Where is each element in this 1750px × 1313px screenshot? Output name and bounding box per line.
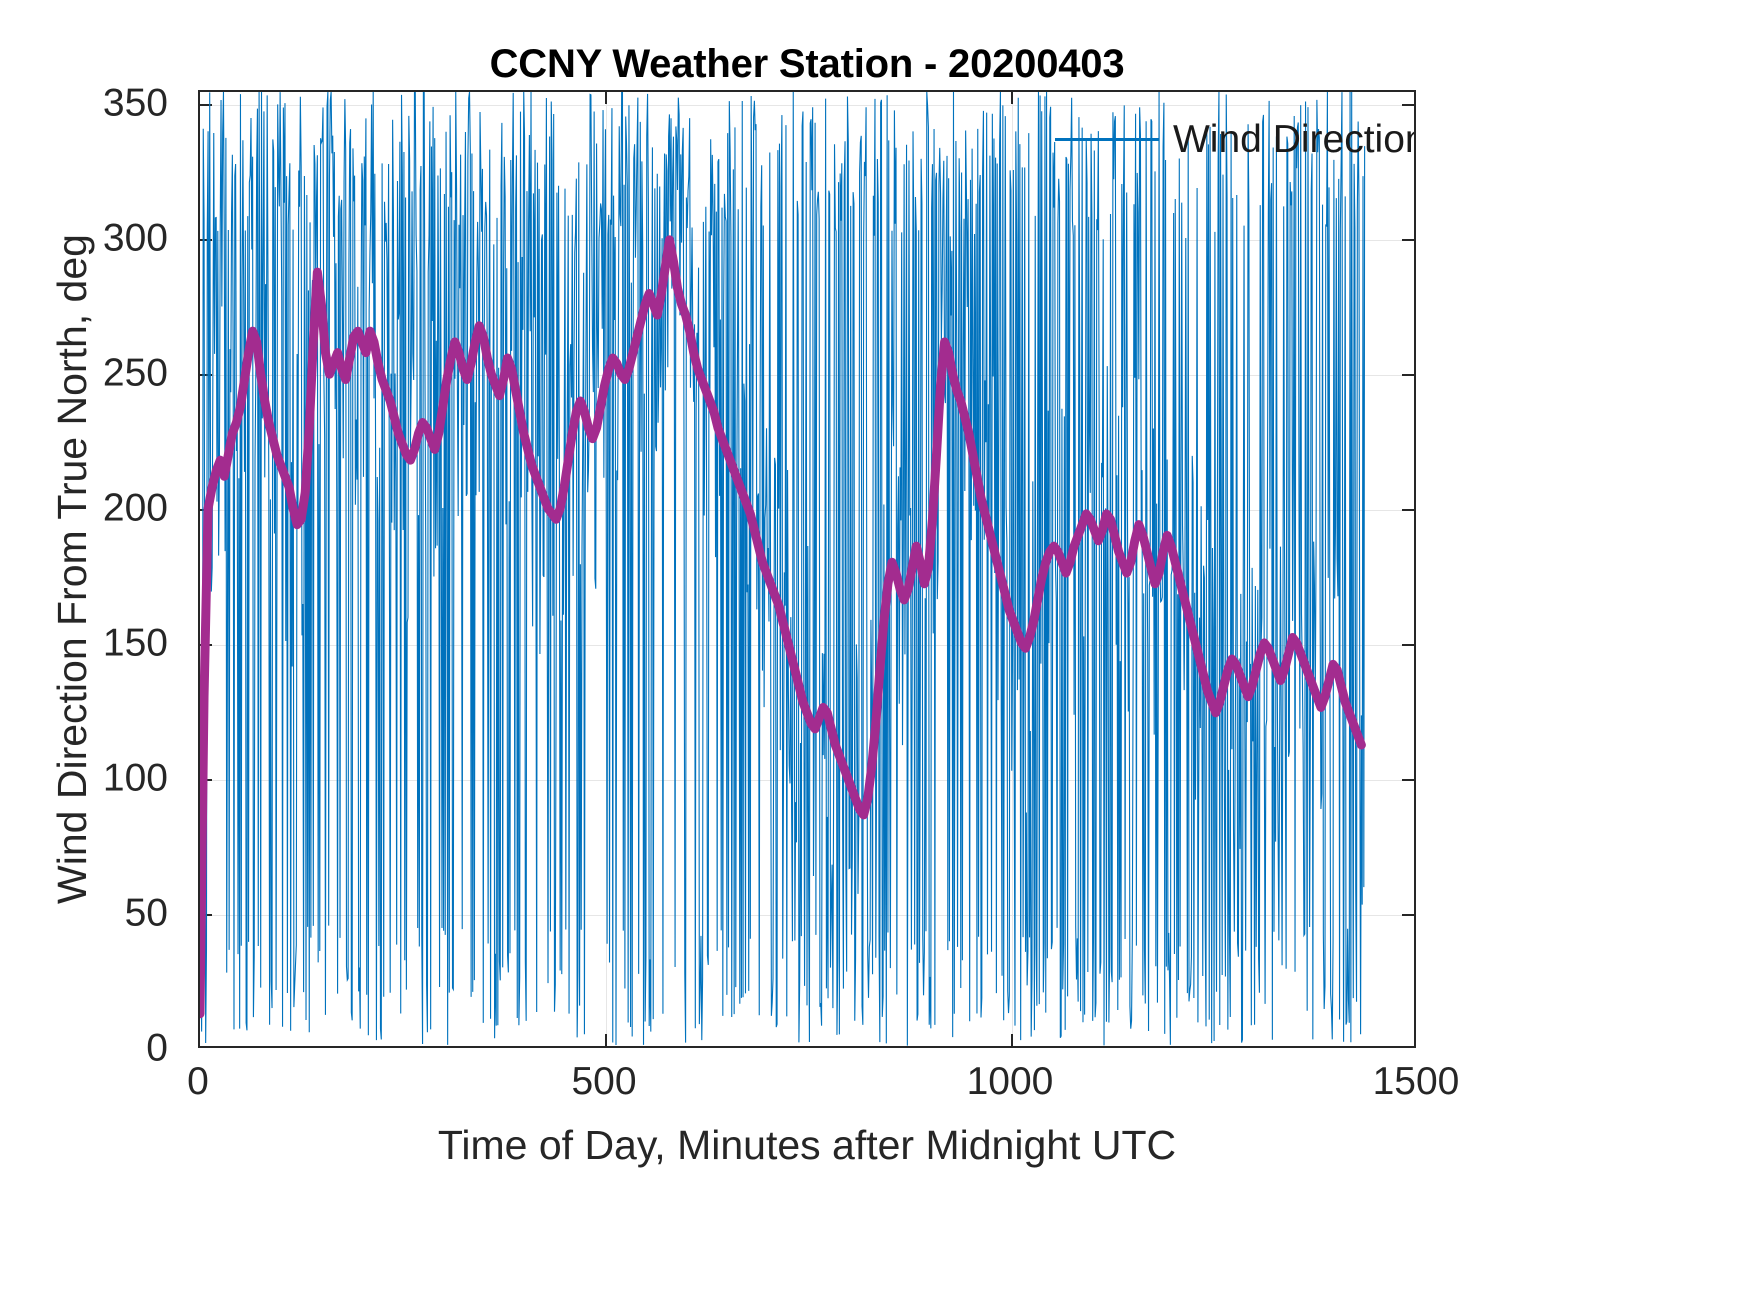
- x-axis-tick-labels: 050010001500: [198, 1062, 1416, 1112]
- x-tick-label: 1000: [967, 1062, 1054, 1101]
- y-tick-label: 200: [103, 489, 182, 528]
- legend-label-wind-direction: Wind Direction: [1173, 120, 1416, 159]
- legend[interactable]: Wind Direction: [1055, 120, 1416, 159]
- legend-swatch-wind-direction: [1055, 138, 1159, 141]
- series-wind-direction-raw: [200, 92, 1365, 1046]
- x-tick-label: 1500: [1373, 1062, 1460, 1101]
- series-layer: [200, 92, 1414, 1046]
- x-axis-title: Time of Day, Minutes after Midnight UTC: [198, 1122, 1416, 1169]
- y-tick-label: 350: [103, 84, 182, 123]
- x-tick-label: 0: [187, 1062, 209, 1101]
- page-title: CCNY Weather Station - 20200403: [198, 42, 1416, 87]
- x-tick-label: 500: [571, 1062, 636, 1101]
- y-axis-title: Wind Direction From True North, deg: [44, 90, 100, 1048]
- y-tick-label: 250: [103, 354, 182, 393]
- chart-figure: CCNY Weather Station - 20200403 05010015…: [0, 0, 1750, 1313]
- y-tick-label: 0: [146, 1029, 182, 1068]
- y-tick-label: 300: [103, 219, 182, 258]
- y-tick-label: 100: [103, 759, 182, 798]
- y-tick-label: 150: [103, 624, 182, 663]
- plot-area: Wind Direction: [198, 90, 1416, 1048]
- y-tick-label: 50: [125, 894, 182, 933]
